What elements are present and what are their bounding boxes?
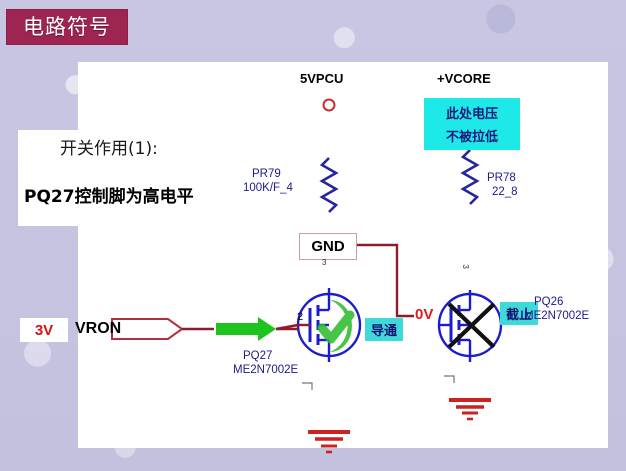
state-tag-conducting: 导通 [365,318,403,341]
pin-number-gate: 2 [297,311,303,324]
callout-note-line-2: 不被拉低 [446,126,498,145]
resistor-pr78 [463,150,477,204]
signal-flow-arrow [216,317,276,341]
callout-note-line-1: 此处电压 [446,103,498,122]
callout-voltage-note: 此处电压 不被拉低 [424,98,520,150]
gnd-net-box: GND [299,233,357,260]
net-label-vron: VRON [75,320,121,338]
gnd-label: GND [311,238,344,255]
ground-symbol-right [449,400,491,419]
mosfet-pq27-refdes: PQ27 [243,350,272,363]
mosfet-pq27-part: ME2N7002E [233,364,298,377]
resistor-pr79-value: 100K/F_4 [243,182,293,195]
cutoff-cross-marker [449,304,494,347]
resistor-pr78-value: 22_8 [492,186,518,199]
input-voltage-box: 3V [20,318,68,342]
wire-gnd-to-pq26 [355,245,414,316]
rail-label-vcore: +VCORE [437,72,491,87]
mosfet-pq26-refdes: PQ26 [534,296,563,309]
node-voltage-0v: 0V [415,306,433,323]
resistor-pr78-refdes: PR78 [487,172,516,185]
input-voltage-value: 3V [35,322,53,339]
pin-number-right-drain: 3 [461,264,470,268]
rail-label-5vpcu: 5VPCU [300,72,343,87]
resistor-pr79 [322,158,336,212]
resistor-pr79-refdes: PR79 [252,168,281,181]
pin-number-left-drain: 3 [322,258,326,267]
terminal-5vpcu [324,100,335,111]
port-flag-vron [112,319,182,339]
mosfet-pq26-part: ME2N7002E [524,310,589,323]
ground-symbol-left [308,432,350,452]
